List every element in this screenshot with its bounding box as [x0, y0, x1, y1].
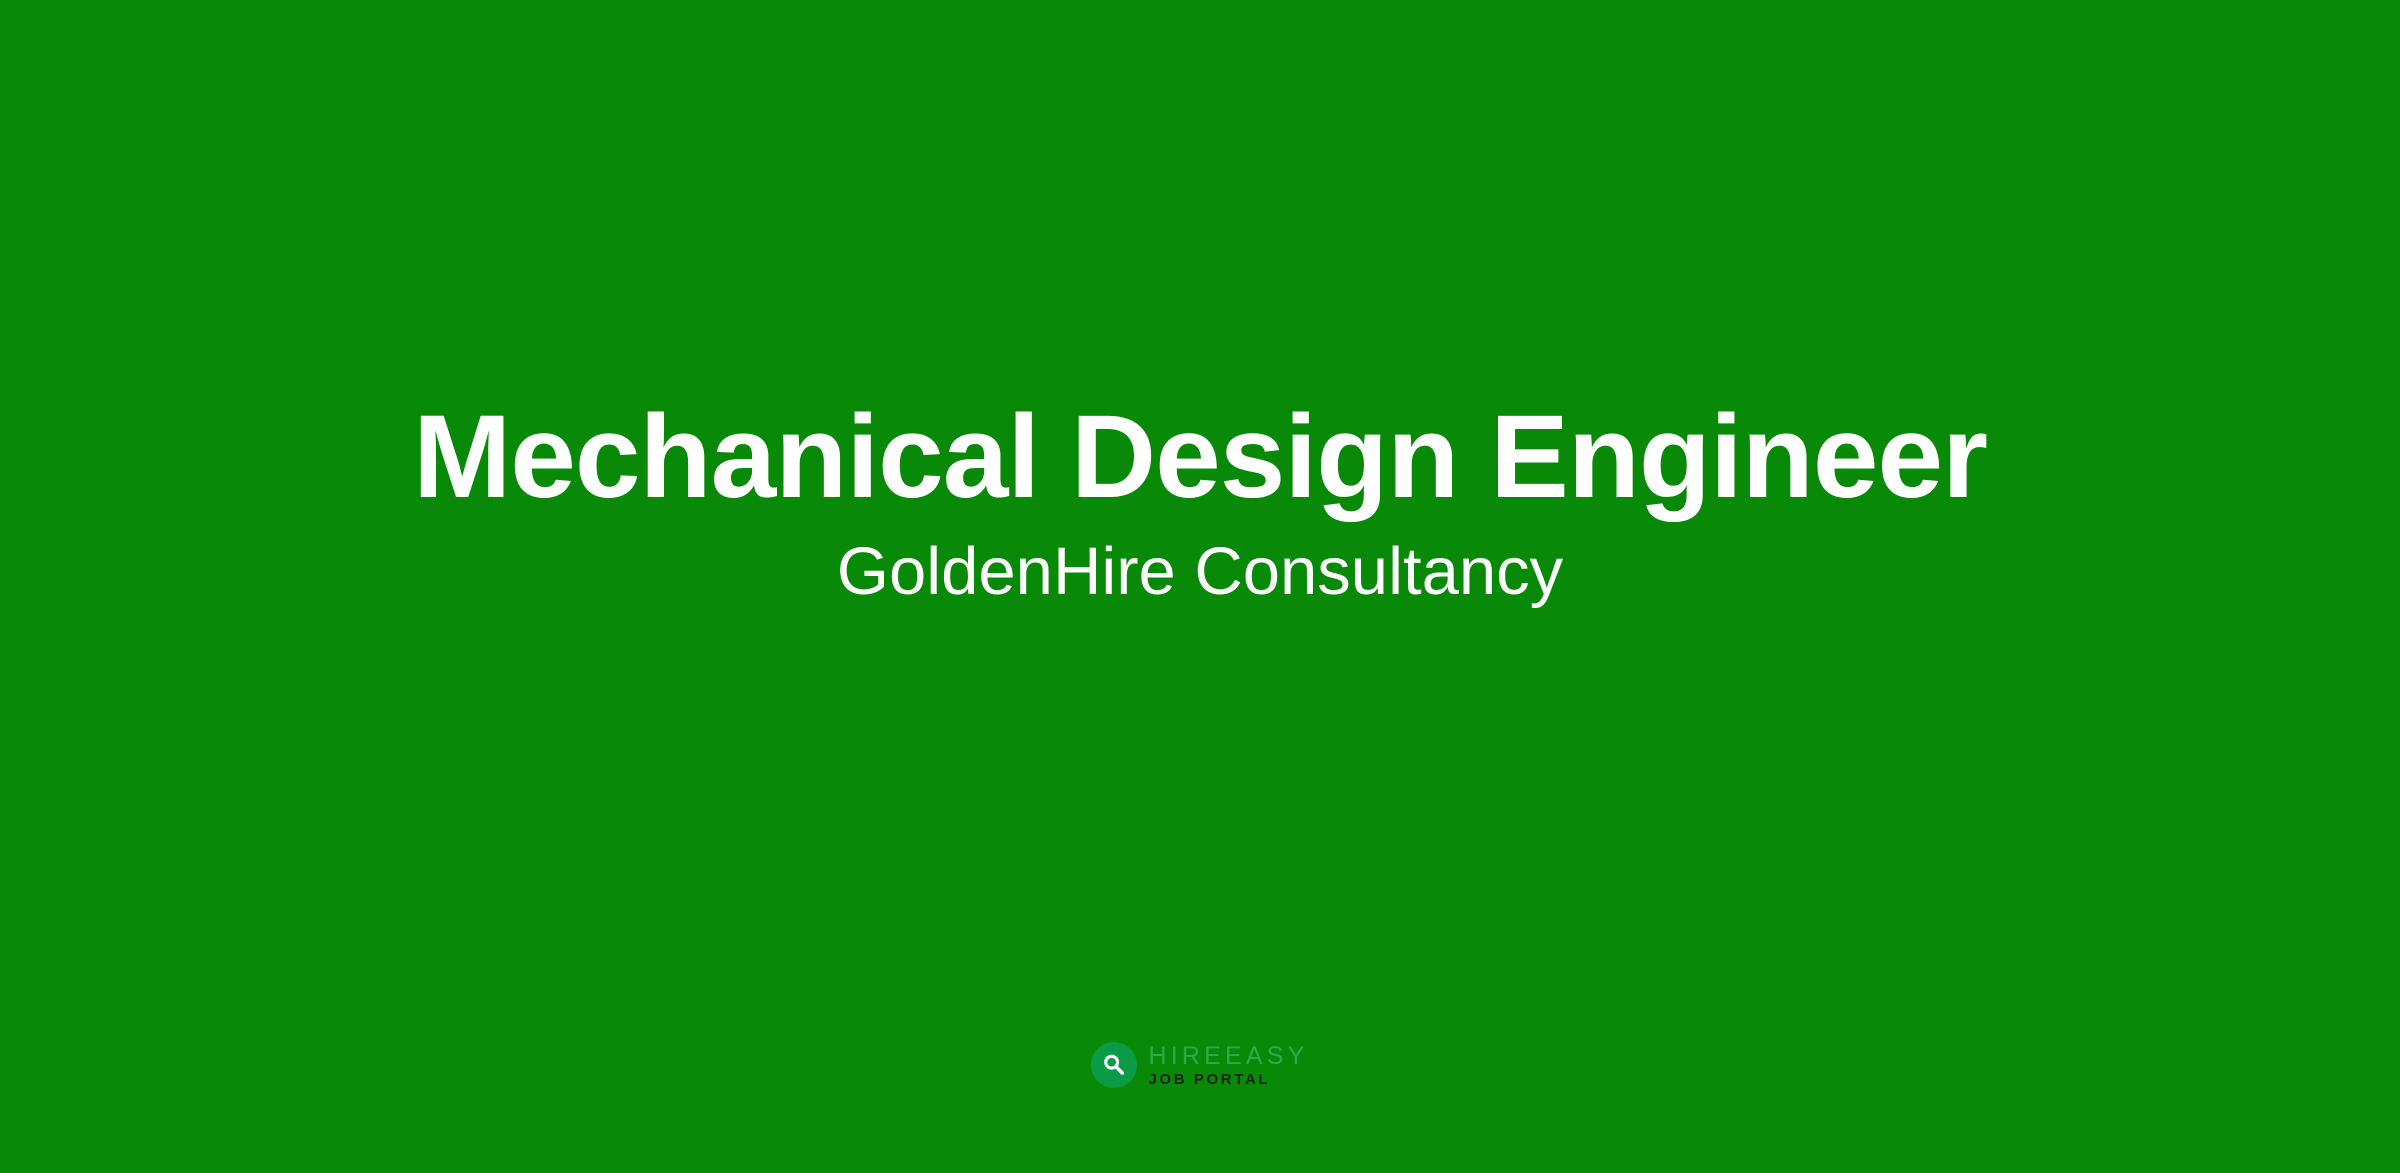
brand-tagline: JOB PORTAL	[1148, 1072, 1270, 1087]
brand-wordmark: HIREEASY JOB PORTAL	[1148, 1044, 1308, 1087]
brand-name: HIREEASY	[1148, 1044, 1308, 1069]
brand-footer: HIREEASY JOB PORTAL	[0, 1042, 2400, 1088]
hero-section: Mechanical Design Engineer GoldenHire Co…	[0, 0, 2400, 1173]
company-name: GoldenHire Consultancy	[837, 538, 1563, 605]
brand-badge	[1091, 1042, 1137, 1088]
search-icon	[1101, 1052, 1127, 1078]
job-card: Mechanical Design Engineer GoldenHire Co…	[0, 0, 2400, 1173]
page-title: Mechanical Design Engineer	[413, 398, 1987, 516]
